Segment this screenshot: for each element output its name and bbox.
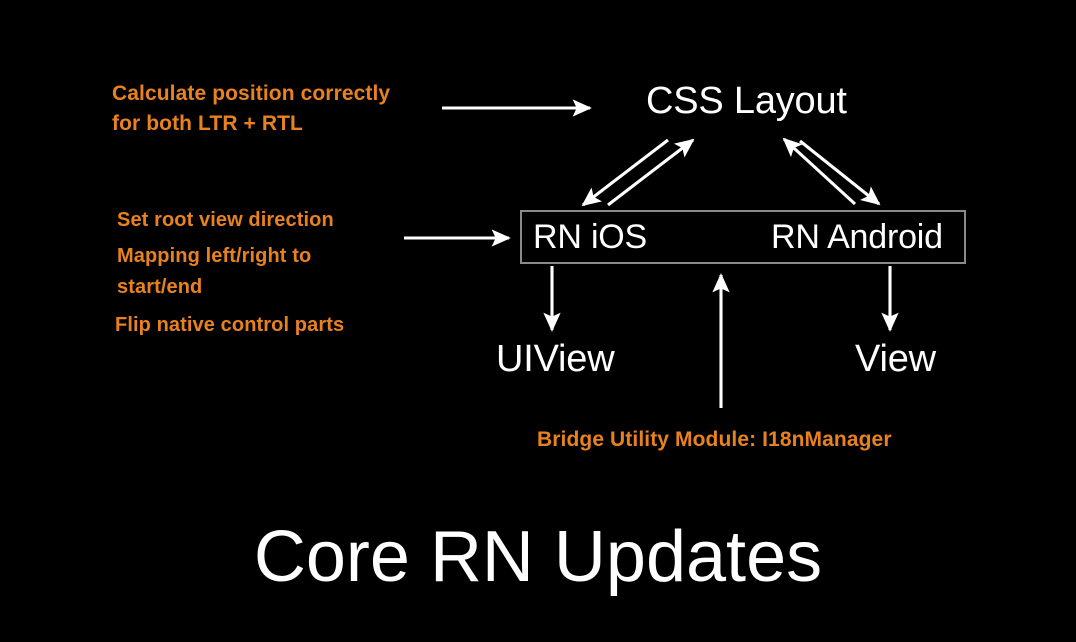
node-uiview: UIView (496, 340, 614, 378)
annotation-mapping-note: Mapping left/right to start/end (117, 241, 311, 303)
node-css-layout: CSS Layout (646, 82, 847, 120)
node-rn-android: RN Android (771, 220, 943, 254)
arrow-css-layout-to-rn-ios (583, 140, 668, 205)
arrow-rn-ios-to-css-layout (608, 140, 693, 205)
annotation-root-view-note: Set root view direction (117, 205, 334, 235)
slide-title: Core RN Updates (0, 520, 1076, 596)
node-view: View (855, 340, 936, 378)
annotation-flip-note: Flip native control parts (115, 310, 344, 340)
node-rn-ios: RN iOS (533, 220, 647, 254)
arrow-css-layout-to-rn-android (800, 141, 879, 204)
slide-canvas: Calculate position correctly for both LT… (0, 0, 1076, 642)
annotation-layout-note: Calculate position correctly for both LT… (112, 79, 390, 139)
annotation-bridge-note: Bridge Utility Module: I18nManager (537, 425, 892, 455)
arrow-rn-android-to-css-layout (784, 139, 855, 204)
